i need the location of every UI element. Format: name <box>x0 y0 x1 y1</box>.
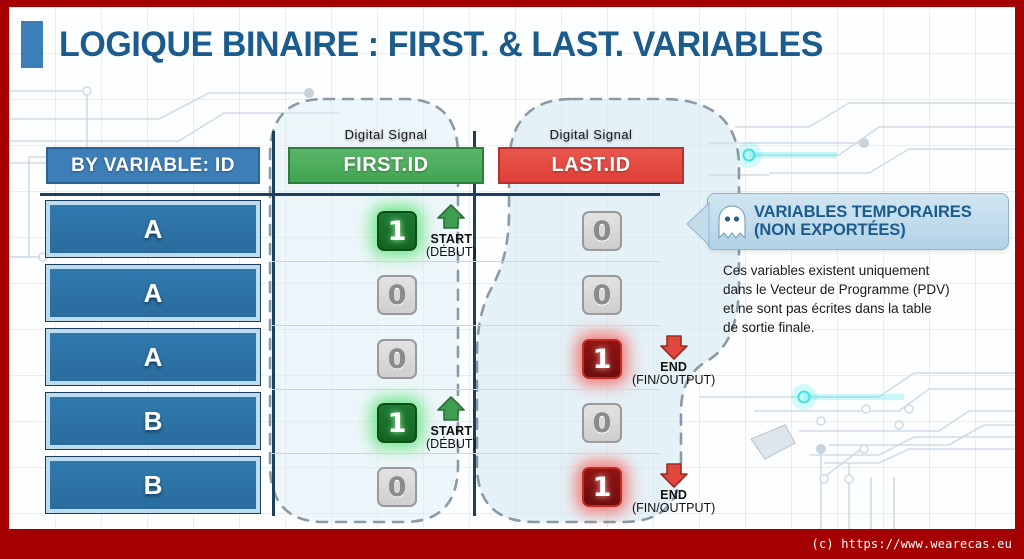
last-id-bit: 0 <box>582 275 622 315</box>
end-marker: END(FIN/OUTPUT) <box>632 331 715 388</box>
page-title: LOGIQUE BINAIRE : FIRST. & LAST. VARIABL… <box>21 21 847 68</box>
row-id-chip: A <box>46 201 260 257</box>
footer-watermark-bar: (c) https://www.wearecas.eu <box>0 529 1024 559</box>
column-header-last-id: Digital Signal LAST.ID <box>498 147 684 184</box>
infographic-root: LOGIQUE BINAIRE : FIRST. & LAST. VARIABL… <box>0 0 1024 559</box>
last-id-bit: 1 <box>582 467 622 507</box>
last-id-bit: 0 <box>582 403 622 443</box>
ghost-icon <box>716 204 748 242</box>
table-row: B10START(DÉBUT) <box>40 389 660 453</box>
header-rule <box>40 193 660 196</box>
start-marker-subtitle: (DÉBUT) <box>426 246 477 260</box>
up-arrow-icon <box>437 395 465 425</box>
column-header-last-id-text: LAST.ID <box>551 154 630 177</box>
column-header-first-id: Digital Signal FIRST.ID <box>288 147 484 184</box>
callout-body-text: Ces variables existent uniquement dans l… <box>723 261 973 338</box>
row-divider <box>272 261 660 262</box>
digital-signal-label-last: Digital Signal <box>500 127 682 142</box>
title-accent-block <box>21 21 43 68</box>
infographic-canvas: LOGIQUE BINAIRE : FIRST. & LAST. VARIABL… <box>9 7 1015 529</box>
table-row: A01END(FIN/OUTPUT) <box>40 325 660 389</box>
page-title-text: LOGIQUE BINAIRE : FIRST. & LAST. VARIABL… <box>59 25 823 65</box>
row-id-chip: A <box>46 265 260 321</box>
row-id-chip: B <box>46 457 260 513</box>
callout-banner: VARIABLES TEMPORAIRES (NON EXPORTÉES) <box>707 193 1009 250</box>
last-id-bit: 0 <box>582 211 622 251</box>
down-arrow-icon <box>660 459 688 489</box>
column-header-first-id-text: FIRST.ID <box>343 154 428 177</box>
start-marker: START(DÉBUT) <box>426 203 477 260</box>
last-id-bit: 1 <box>582 339 622 379</box>
first-id-bit: 1 <box>377 211 417 251</box>
row-divider <box>272 389 660 390</box>
first-id-bit: 0 <box>377 275 417 315</box>
row-id-chip: A <box>46 329 260 385</box>
column-header-id: BY VARIABLE: ID <box>46 147 260 184</box>
callout-title: VARIABLES TEMPORAIRES (NON EXPORTÉES) <box>754 203 998 240</box>
first-id-bit: 1 <box>377 403 417 443</box>
callout-pointer <box>686 202 710 246</box>
start-marker: START(DÉBUT) <box>426 395 477 452</box>
end-marker: END(FIN/OUTPUT) <box>632 459 715 516</box>
up-arrow-icon <box>437 203 465 233</box>
watermark-text: (c) https://www.wearecas.eu <box>812 537 1012 551</box>
digital-signal-label-first: Digital Signal <box>290 127 482 142</box>
first-id-bit: 0 <box>377 339 417 379</box>
start-marker-subtitle: (DÉBUT) <box>426 438 477 452</box>
temporary-variables-callout: VARIABLES TEMPORAIRES (NON EXPORTÉES) Ce… <box>679 193 1009 338</box>
logic-table: BY VARIABLE: ID Digital Signal FIRST.ID … <box>40 131 660 516</box>
row-divider <box>272 453 660 454</box>
table-row: B01END(FIN/OUTPUT) <box>40 453 660 517</box>
end-marker-subtitle: (FIN/OUTPUT) <box>632 374 715 388</box>
table-row: A00 <box>40 261 660 325</box>
table-row: A10START(DÉBUT) <box>40 197 660 261</box>
row-id-chip: B <box>46 393 260 449</box>
first-id-bit: 0 <box>377 467 417 507</box>
row-divider <box>272 325 660 326</box>
end-marker-subtitle: (FIN/OUTPUT) <box>632 502 715 516</box>
